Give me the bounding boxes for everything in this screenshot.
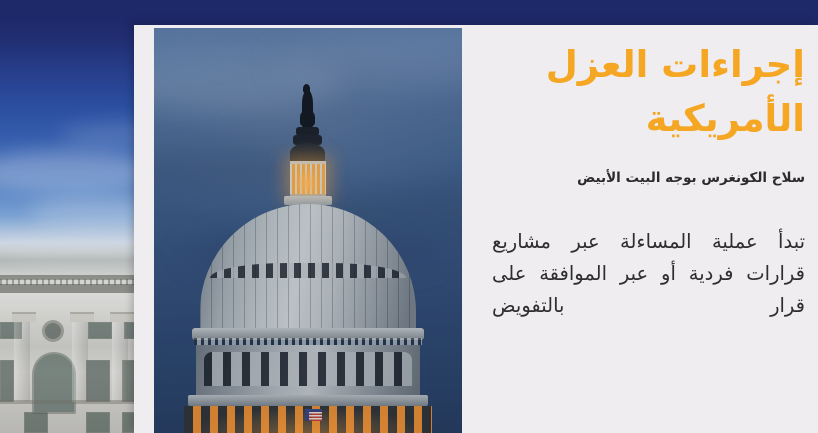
text-column: إجراءات العزل الأمريكية سلاح الكونغرس بو…: [479, 25, 818, 433]
slide-body-text: تبدأ عملية المساءلة عبر مشاريع قرارات فر…: [492, 226, 805, 355]
capitol-dome-photo: [154, 28, 462, 433]
slide-title: إجراءات العزل الأمريكية: [492, 38, 805, 147]
slide-subtitle: سلاح الكونغرس بوجه البيت الأبيض: [492, 169, 805, 188]
slide-canvas: إجراءات العزل الأمريكية سلاح الكونغرس بو…: [0, 0, 818, 433]
photo-tint-overlay: [154, 28, 462, 433]
content-card: إجراءات العزل الأمريكية سلاح الكونغرس بو…: [134, 25, 818, 433]
